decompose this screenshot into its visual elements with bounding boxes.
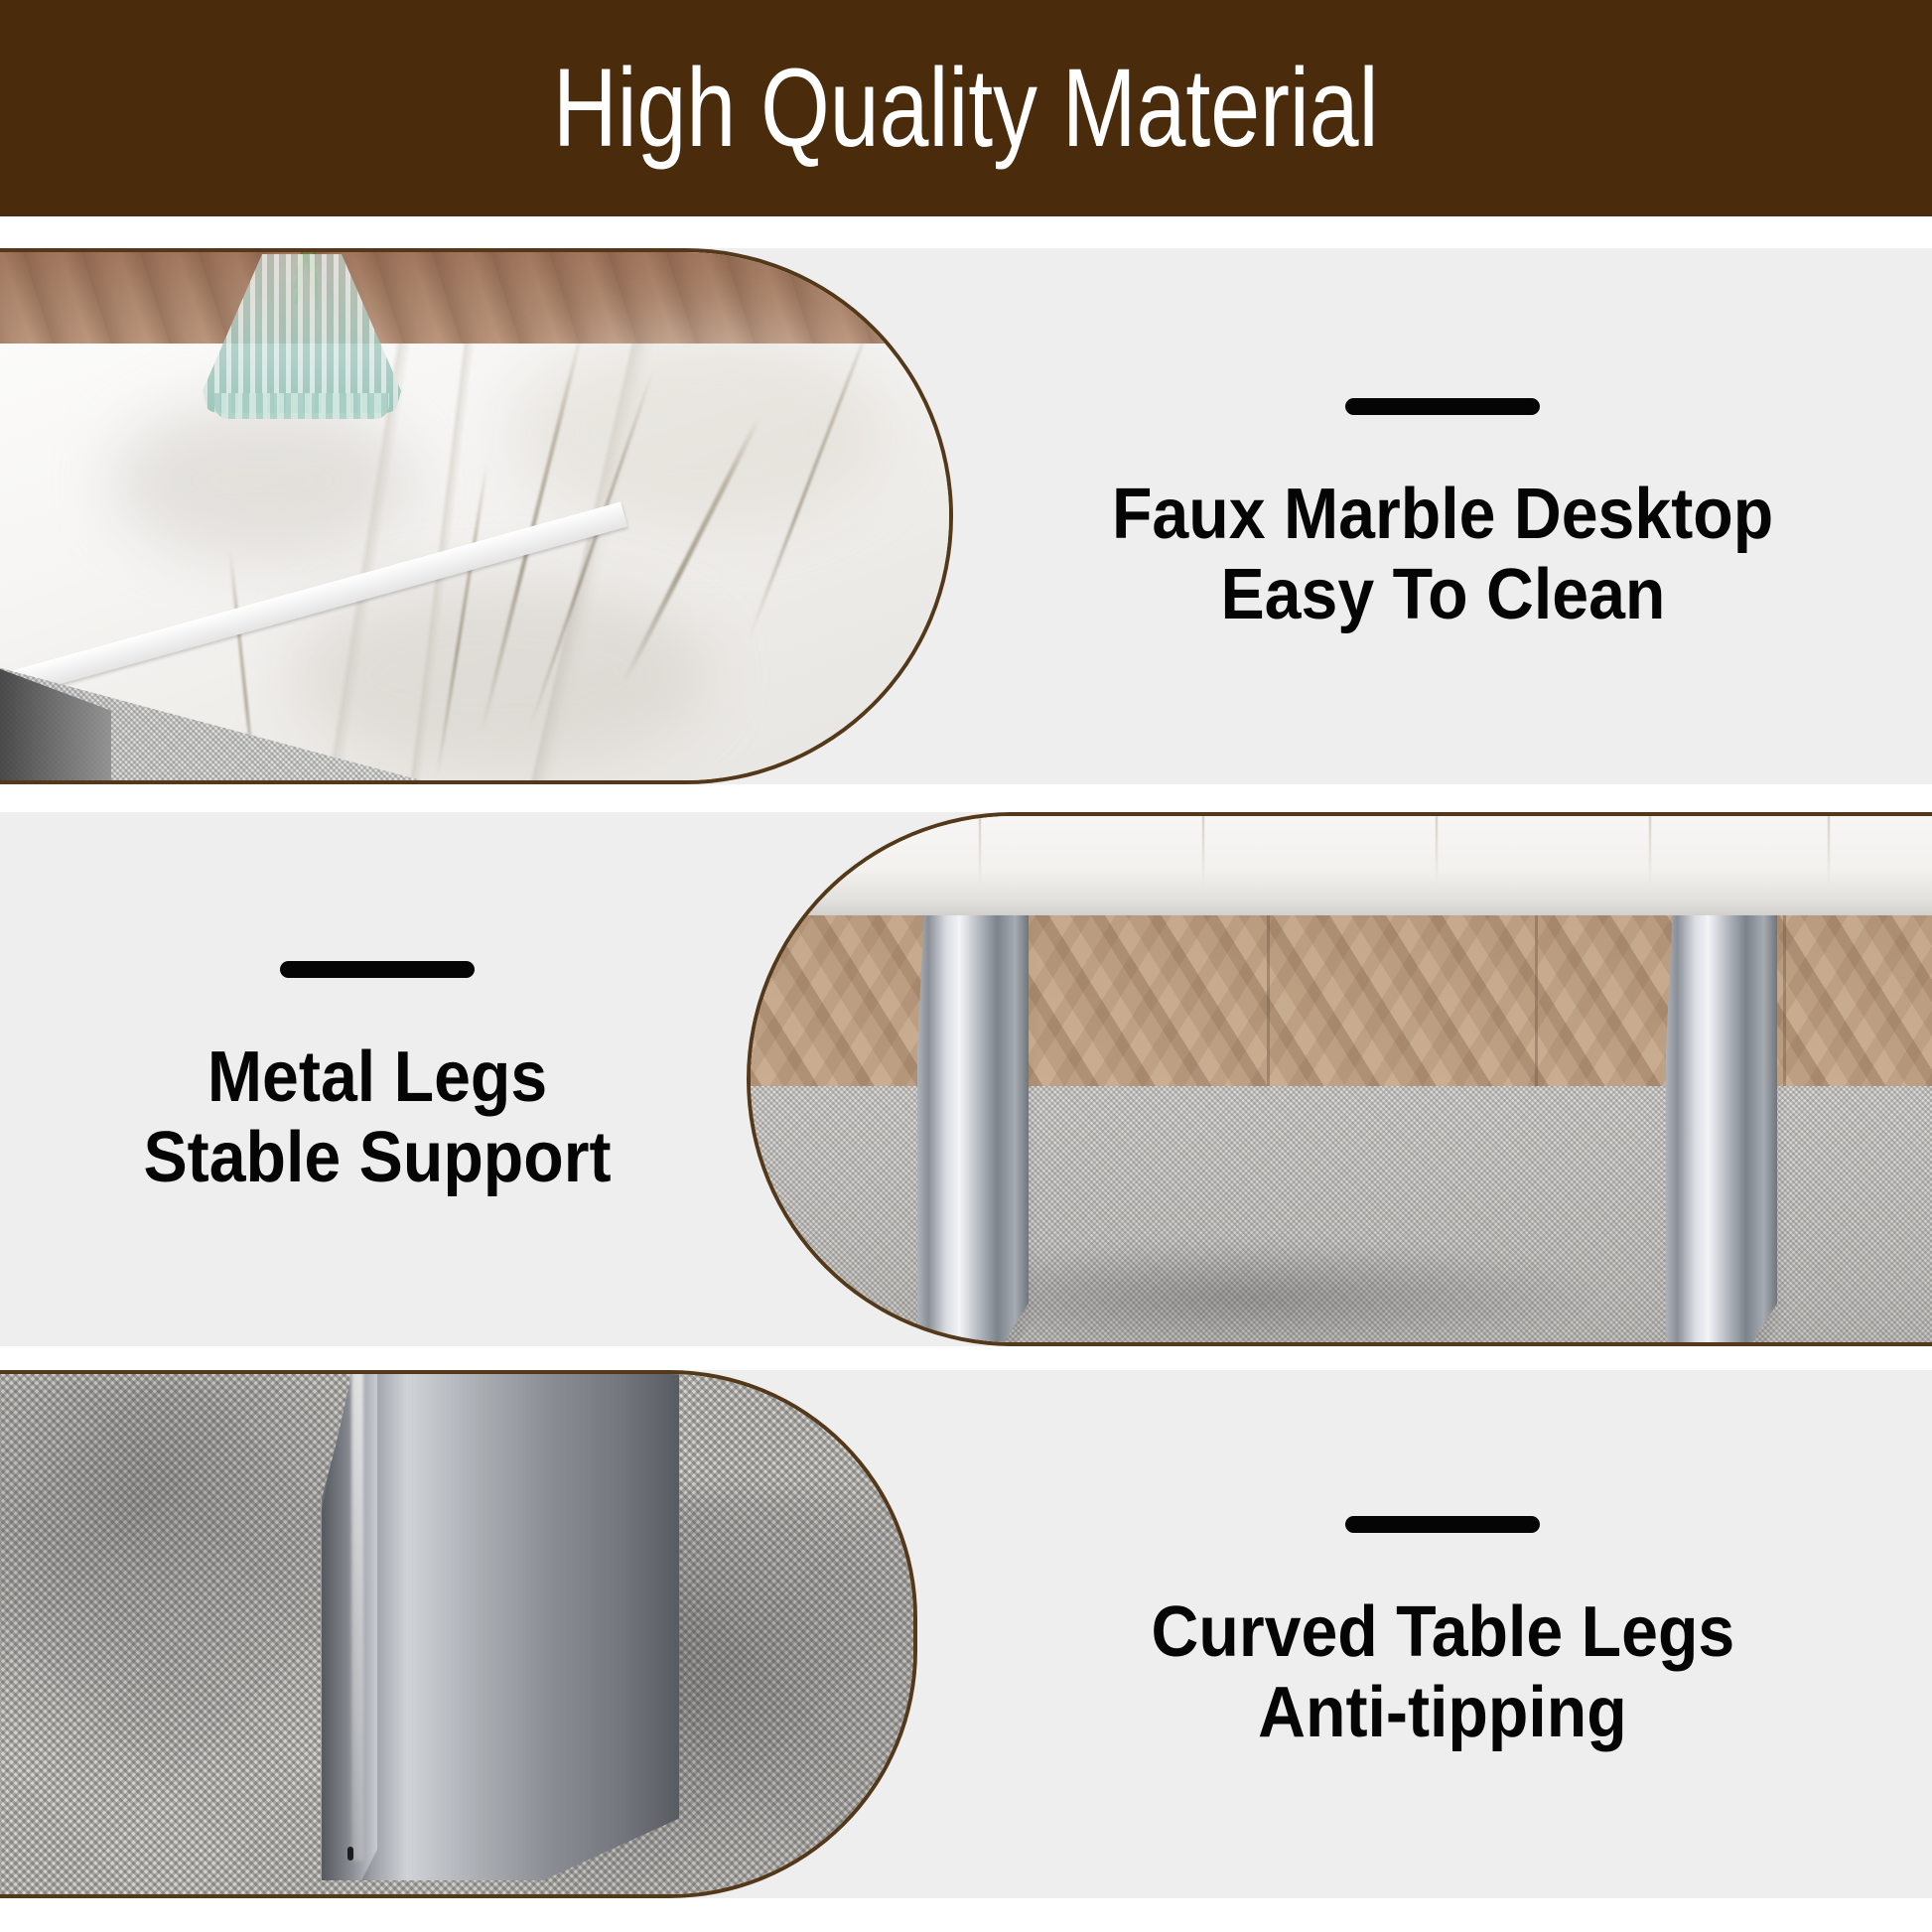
vase-body xyxy=(203,254,401,413)
header-banner: High Quality Material xyxy=(0,0,1932,216)
leg-foot xyxy=(347,1847,353,1861)
floor-seam xyxy=(1535,911,1538,1090)
caption-rule xyxy=(1345,1516,1540,1533)
wood-floor-strip xyxy=(0,252,949,344)
marble-blotch xyxy=(292,580,709,768)
marble-tabletop xyxy=(751,816,1932,915)
caption-line-1: Curved Table Legs xyxy=(1151,1592,1734,1673)
caption-line-1: Metal Legs xyxy=(207,1037,547,1118)
tabletop-vein xyxy=(1202,816,1204,886)
feature-image-metal-legs xyxy=(747,812,1932,1346)
page-title: High Quality Material xyxy=(553,53,1379,164)
glass-vase xyxy=(203,252,401,413)
caption-line-2: Anti-tipping xyxy=(1258,1673,1627,1753)
marble-blotch xyxy=(113,401,411,560)
feature-panel-faux-marble-desktop: Faux Marble Desktop Easy To Clean xyxy=(0,248,1932,784)
caption-line-1: Faux Marble Desktop xyxy=(1112,475,1773,555)
feature-text-metal-legs: Metal Legs Stable Support xyxy=(0,812,755,1346)
leg-highlight xyxy=(351,1374,363,1861)
caption-rule xyxy=(1345,398,1540,415)
feature-text-faux-marble-desktop: Faux Marble Desktop Easy To Clean xyxy=(953,248,1932,784)
caption-line-2: Stable Support xyxy=(143,1118,611,1198)
caption-rule xyxy=(280,961,475,978)
metal-leg-right xyxy=(1666,911,1777,1342)
marble-blotch xyxy=(510,332,888,530)
tabletop-vein xyxy=(1828,816,1830,886)
feature-panel-curved-table-legs: Curved Table Legs Anti-tipping xyxy=(0,1370,1932,1898)
feature-image-faux-marble-desktop xyxy=(0,248,953,784)
feature-panel-metal-legs: Metal Legs Stable Support xyxy=(0,812,1932,1346)
metal-leg-left xyxy=(917,911,1029,1342)
tabletop-vein xyxy=(1436,816,1438,886)
caption-line-2: Easy To Clean xyxy=(1220,555,1665,635)
feature-image-curved-table-legs xyxy=(0,1370,917,1898)
tabletop-vein xyxy=(1649,816,1651,886)
vase-rim xyxy=(214,393,389,419)
floor-seam xyxy=(1267,911,1270,1090)
tabletop-vein xyxy=(979,816,981,886)
feature-text-curved-table-legs: Curved Table Legs Anti-tipping xyxy=(953,1370,1932,1898)
